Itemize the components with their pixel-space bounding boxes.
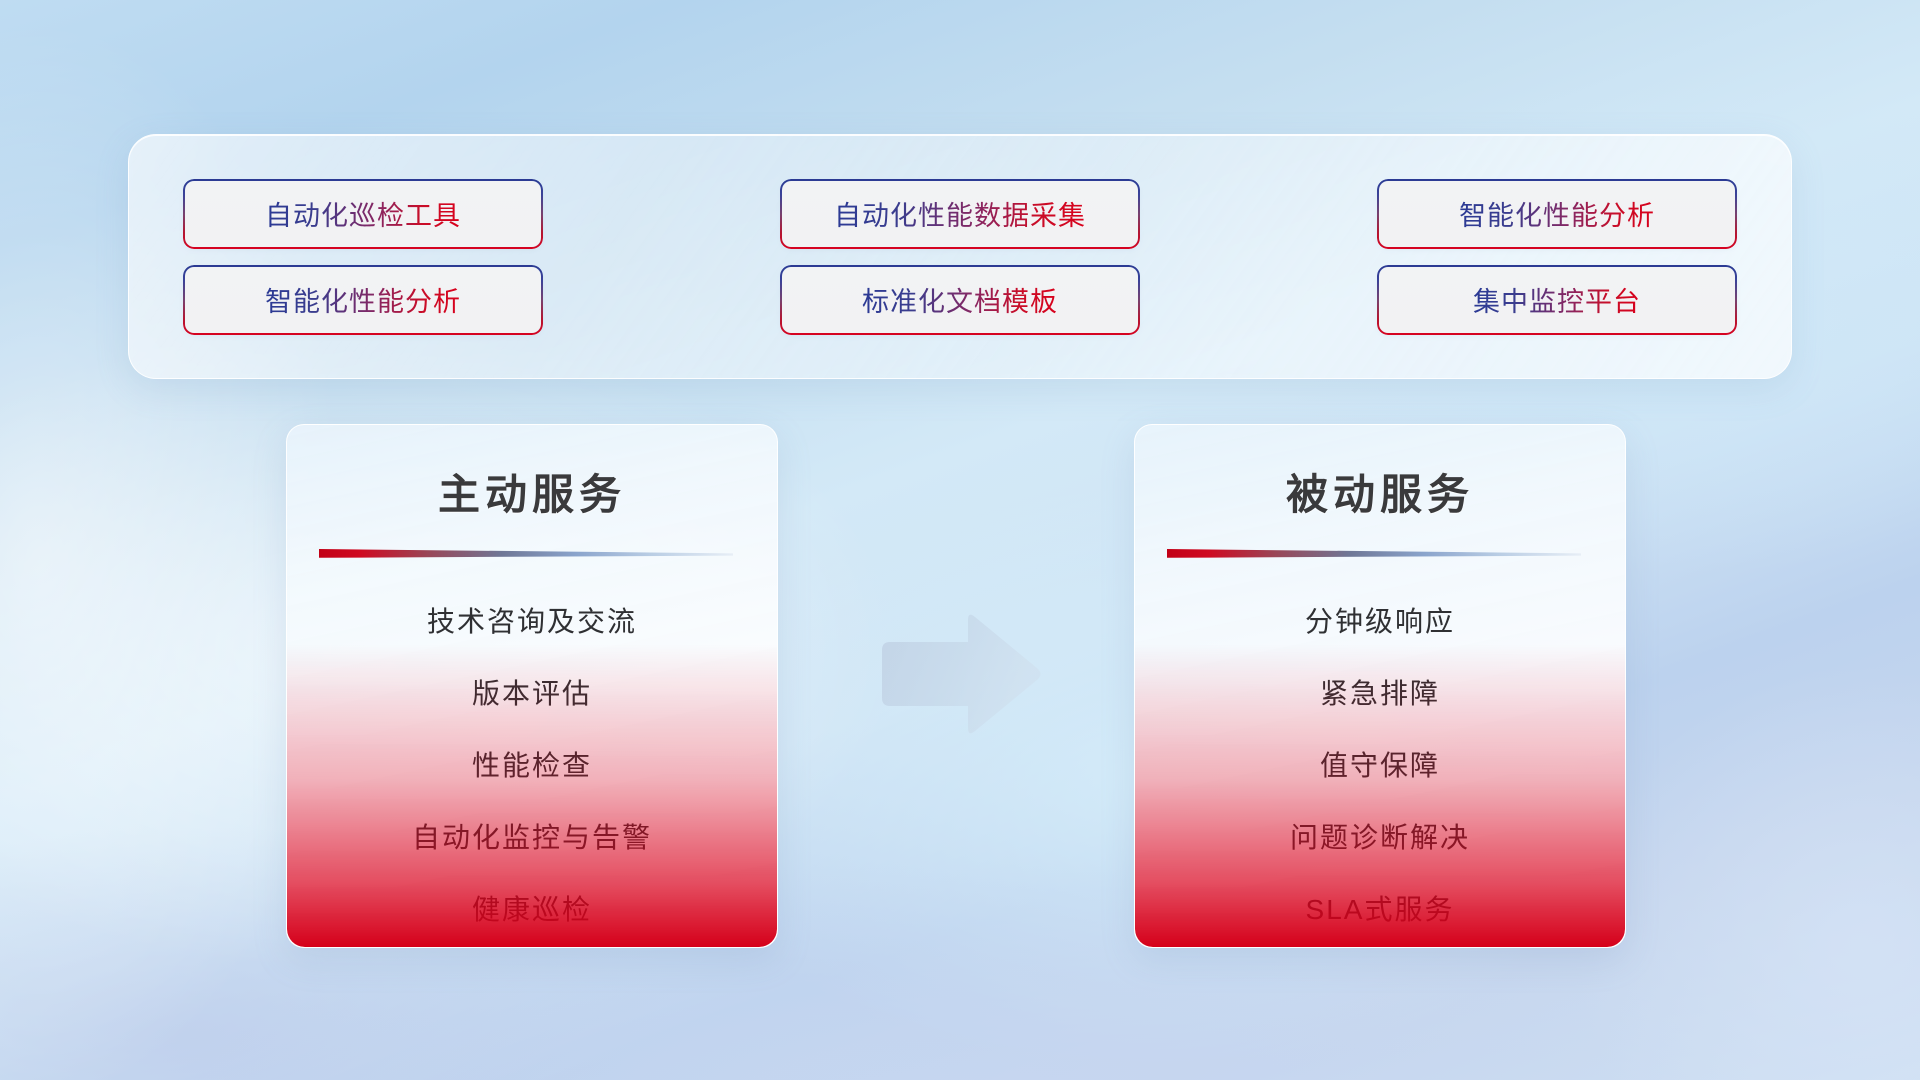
capability-pill-label: 智能化性能分析 (265, 280, 461, 319)
arrow-right-shape (872, 612, 1042, 736)
list-item[interactable]: 健康巡检 (287, 874, 777, 946)
capability-pill-automated-performance-data-collection[interactable]: 自动化性能数据采集 (782, 181, 1138, 247)
capability-panel: 自动化巡检工具 自动化性能数据采集 智能化性能分析 智能化性能分析 标准化文档模… (128, 134, 1792, 379)
list-item[interactable]: 版本评估 (287, 658, 777, 730)
capability-pill-label: 智能化性能分析 (1459, 194, 1655, 233)
divider-taper-shape (1167, 548, 1581, 560)
card-title-reactive: 被动服务 (1135, 461, 1625, 522)
list-item[interactable]: 技术咨询及交流 (287, 586, 777, 658)
capability-pill-label: 标准化文档模板 (862, 280, 1058, 319)
capability-row-2: 智能化性能分析 标准化文档模板 集中监控平台 (185, 267, 1735, 333)
capability-pill-intelligent-performance-analysis-2[interactable]: 智能化性能分析 (185, 267, 541, 333)
list-item[interactable]: SLA式服务 (1135, 874, 1625, 946)
service-card-reactive[interactable]: 被动服务 分钟级响应 紧急排障 值守保障 问题诊断解决 SLA式服务 (1134, 424, 1626, 948)
card-divider-reactive (1167, 548, 1581, 560)
capability-pill-label: 集中监控平台 (1473, 280, 1641, 319)
capability-pill-intelligent-performance-analysis[interactable]: 智能化性能分析 (1379, 181, 1735, 247)
list-item[interactable]: 问题诊断解决 (1135, 802, 1625, 874)
divider-taper-shape (319, 548, 733, 560)
capability-pill-standardized-document-template[interactable]: 标准化文档模板 (782, 267, 1138, 333)
list-item[interactable]: 自动化监控与告警 (287, 802, 777, 874)
list-item[interactable]: 性能检查 (287, 730, 777, 802)
capability-row-1: 自动化巡检工具 自动化性能数据采集 智能化性能分析 (185, 181, 1735, 247)
list-item[interactable]: 紧急排障 (1135, 658, 1625, 730)
capability-pill-label: 自动化巡检工具 (265, 194, 461, 233)
capability-pill-label: 自动化性能数据采集 (834, 194, 1086, 233)
capability-pill-centralized-monitoring-platform[interactable]: 集中监控平台 (1379, 267, 1735, 333)
capability-pill-automated-inspection-tool[interactable]: 自动化巡检工具 (185, 181, 541, 247)
service-list-reactive: 分钟级响应 紧急排障 值守保障 问题诊断解决 SLA式服务 (1135, 586, 1625, 946)
list-item[interactable]: 分钟级响应 (1135, 586, 1625, 658)
card-divider-proactive (319, 548, 733, 560)
arrow-right-icon (872, 612, 1042, 736)
list-item[interactable]: 值守保障 (1135, 730, 1625, 802)
service-list-proactive: 技术咨询及交流 版本评估 性能检查 自动化监控与告警 健康巡检 (287, 586, 777, 946)
card-title-proactive: 主动服务 (287, 461, 777, 522)
service-card-proactive[interactable]: 主动服务 技术咨询及交流 版本评估 性能检查 自动化监控与告警 健康巡检 (286, 424, 778, 948)
